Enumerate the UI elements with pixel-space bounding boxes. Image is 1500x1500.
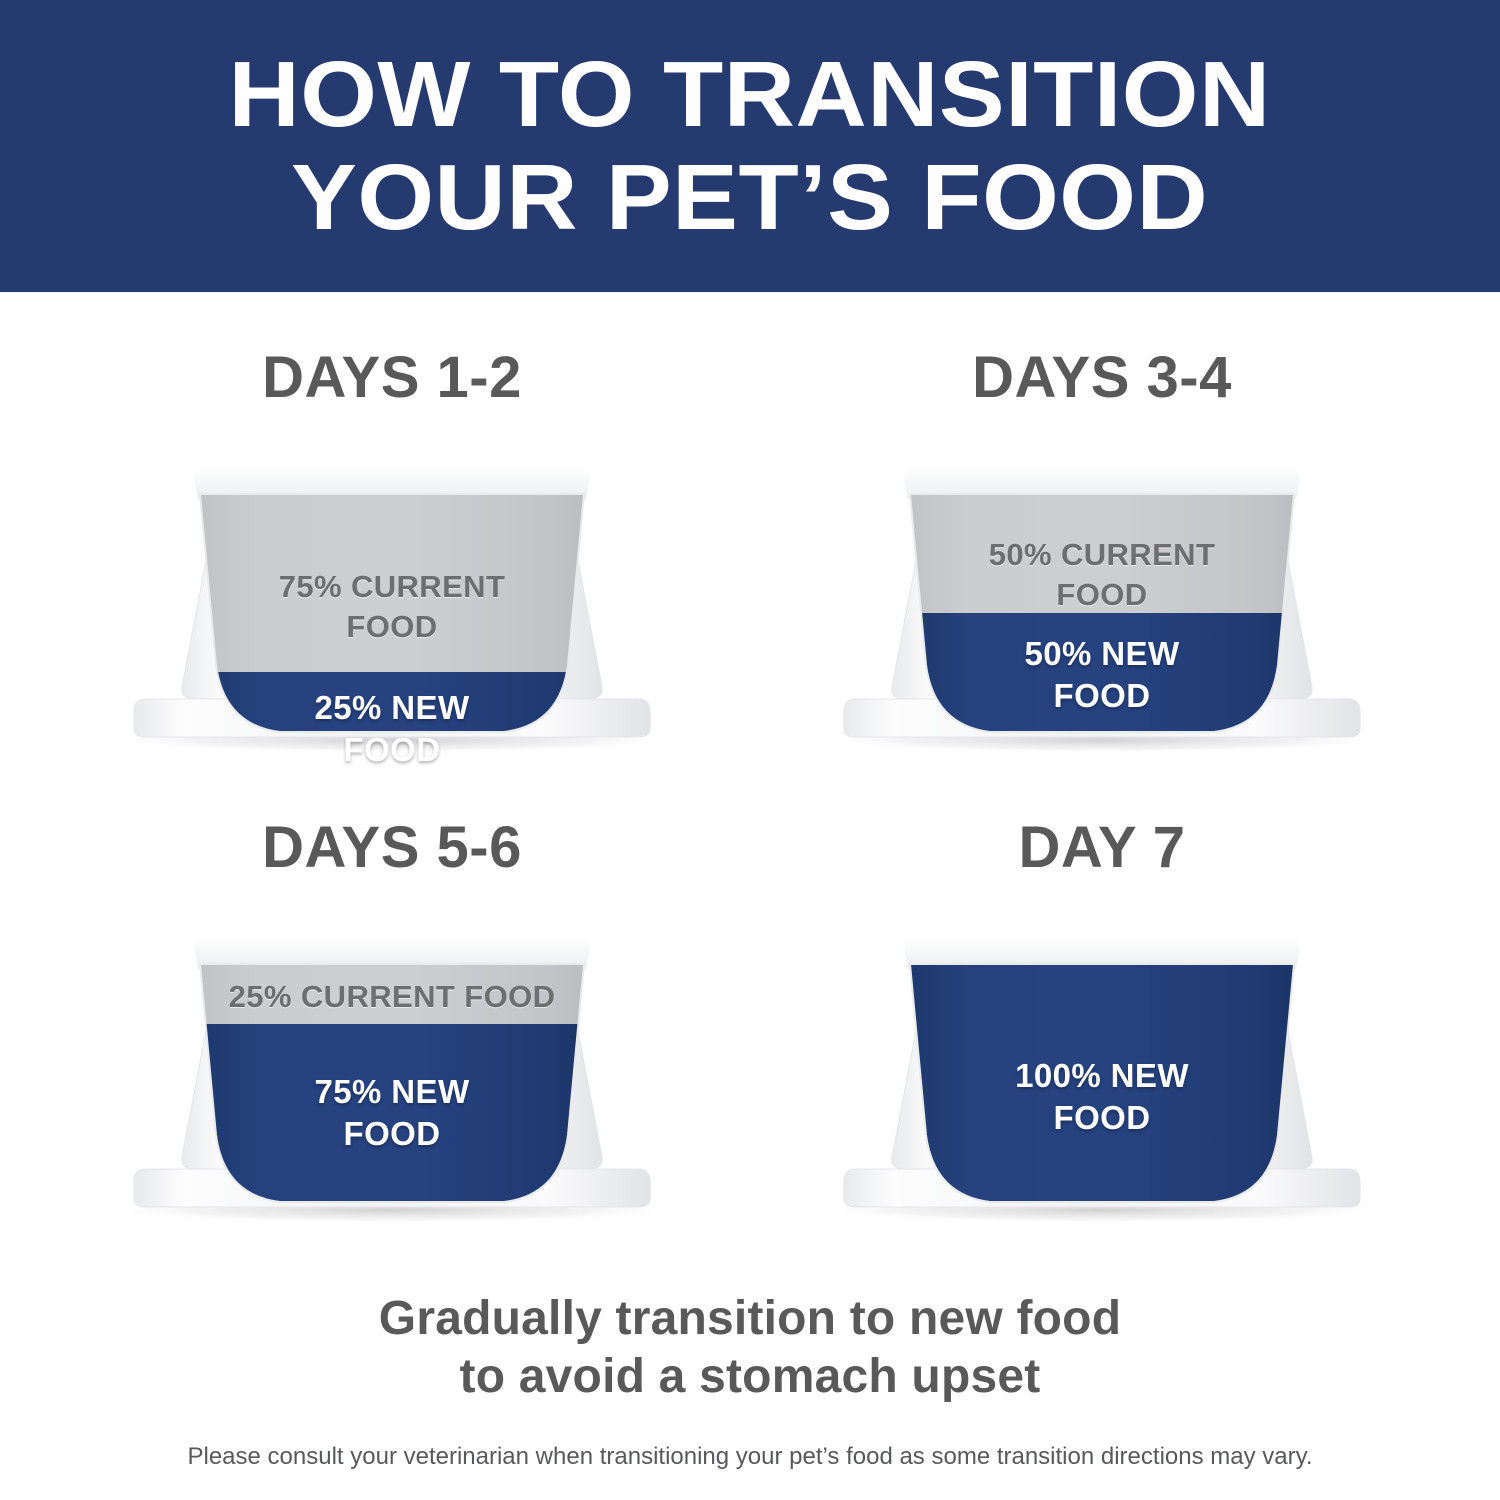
pet-bowl-illustration [752,437,1452,777]
header-title-line-1: HOW TO TRANSITION [229,43,1271,146]
transition-step-card: DAYS 3-4 [752,347,1452,777]
pet-bowl-illustration [752,907,1452,1247]
pet-bowl-illustration [42,437,742,777]
transition-step-card: DAYS 1-2 [42,347,742,777]
transition-step-card: DAYS 5-6 [42,817,742,1247]
pet-bowl-illustration [42,907,742,1247]
bowl-svg [42,907,742,1247]
bowl-svg [42,437,742,777]
step-day-title: DAYS 5-6 [42,817,742,879]
step-day-title: DAY 7 [752,817,1452,879]
footer-headline: Gradually transition to new food to avoi… [0,1290,1500,1406]
bowl-svg [752,437,1452,777]
transition-step-card: DAY 7 [752,817,1452,1247]
step-day-title: DAYS 1-2 [42,347,742,409]
header-banner: HOW TO TRANSITION YOUR PET’S FOOD [0,0,1500,292]
transition-steps-grid: DAYS 1-2 [0,292,1500,1272]
bowl-svg [752,907,1452,1247]
footer-disclaimer: Please consult your veterinarian when tr… [0,1442,1500,1472]
step-day-title: DAYS 3-4 [752,347,1452,409]
header-title-line-2: YOUR PET’S FOOD [291,146,1208,249]
infographic-page: HOW TO TRANSITION YOUR PET’S FOOD DAYS 1… [0,0,1500,1500]
